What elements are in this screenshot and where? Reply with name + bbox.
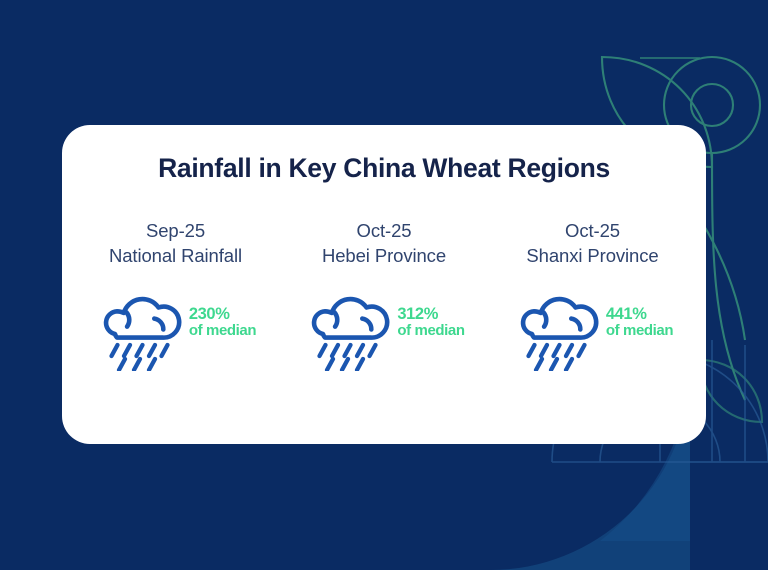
cloud-outline xyxy=(106,299,179,338)
stats-card: Rainfall in Key China Wheat Regions Sep-… xyxy=(62,125,706,444)
cloud-inner-arc-left xyxy=(126,312,129,326)
region-period: Oct-25 xyxy=(322,219,446,244)
decor-large-arc xyxy=(712,153,745,400)
regions-row: Sep-25 National Rainfall xyxy=(72,219,696,371)
region-period: Sep-25 xyxy=(109,219,242,244)
region-stat: 312% of median xyxy=(303,285,464,371)
region-percent-caption: of median xyxy=(189,323,256,340)
cloud-inner-arc-left xyxy=(543,312,546,326)
region-column-shanxi: Oct-25 Shanxi Province xyxy=(489,219,696,371)
region-percent: 312% xyxy=(397,305,464,323)
region-stat: 230% of median xyxy=(95,285,256,371)
region-value-block: 312% of median xyxy=(397,305,464,352)
region-heading: Oct-25 Shanxi Province xyxy=(526,219,658,268)
decor-lower-leaf-icon xyxy=(700,360,762,422)
rain-drops xyxy=(528,345,584,370)
region-stat: 441% of median xyxy=(512,285,673,371)
decor-inner-circle xyxy=(691,84,733,126)
region-column-hebei: Oct-25 Hebei Province xyxy=(281,219,488,371)
infographic-canvas: Rainfall in Key China Wheat Regions Sep-… xyxy=(0,0,768,570)
rain-cloud-icon xyxy=(95,285,187,371)
page-title: Rainfall in Key China Wheat Regions xyxy=(62,153,706,184)
cloud-inner-arc-right xyxy=(154,319,163,330)
rain-cloud-icon xyxy=(512,285,604,371)
cloud-inner-arc-right xyxy=(571,319,580,330)
rain-drops xyxy=(320,345,376,370)
region-percent-caption: of median xyxy=(606,323,673,340)
cloud-outline xyxy=(523,299,596,338)
region-percent: 230% xyxy=(189,305,256,323)
cloud-inner-arc-right xyxy=(363,319,372,330)
region-percent: 441% xyxy=(606,305,673,323)
region-period: Oct-25 xyxy=(526,219,658,244)
region-heading: Oct-25 Hebei Province xyxy=(322,219,446,268)
region-value-block: 230% of median xyxy=(189,305,256,352)
region-value-block: 441% of median xyxy=(606,305,673,352)
region-column-national: Sep-25 National Rainfall xyxy=(72,219,279,371)
rain-drops xyxy=(111,345,167,370)
cloud-inner-arc-left xyxy=(335,312,338,326)
region-name: Shanxi Province xyxy=(526,244,658,269)
region-name: National Rainfall xyxy=(109,244,242,269)
cloud-outline xyxy=(314,299,387,338)
region-heading: Sep-25 National Rainfall xyxy=(109,219,242,268)
region-percent-caption: of median xyxy=(397,323,464,340)
rain-cloud-icon xyxy=(303,285,395,371)
region-name: Hebei Province xyxy=(322,244,446,269)
